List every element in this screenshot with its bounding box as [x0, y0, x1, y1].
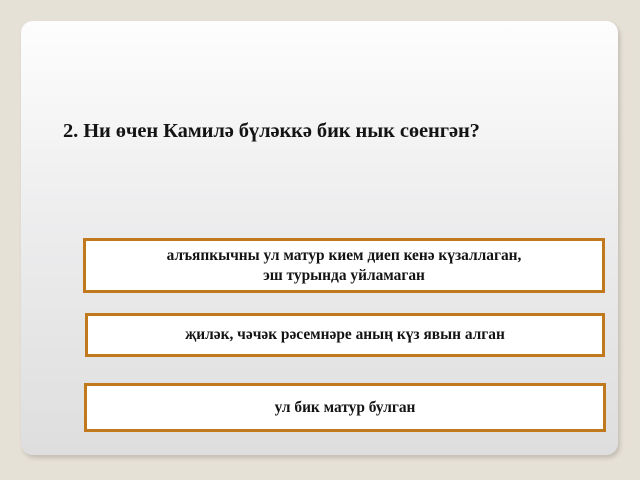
question-title: 2. Ни өчен Камилә бүләккә бик нык сөенгә…	[63, 119, 593, 144]
slide-card: 2. Ни өчен Камилә бүләккә бик нык сөенгә…	[21, 21, 618, 455]
answer-option-1-line-2: эш турында уйламаган	[167, 266, 522, 286]
answer-option-1-label: алъяпкычны ул матур кием диеп кенә күзал…	[161, 246, 528, 285]
answer-option-2-label: җиләк, чәчәк рәсемнәре аның күз явын алг…	[179, 325, 511, 345]
answer-option-1-line-1: алъяпкычны ул матур кием диеп кенә күзал…	[167, 246, 522, 266]
answer-option-3[interactable]: ул бик матур булган	[84, 383, 606, 432]
answer-option-3-label: ул бик матур булган	[269, 398, 422, 418]
answer-option-1[interactable]: алъяпкычны ул матур кием диеп кенә күзал…	[83, 238, 605, 293]
answer-option-2[interactable]: җиләк, чәчәк рәсемнәре аның күз явын алг…	[85, 313, 605, 357]
slide-root: 2. Ни өчен Камилә бүләккә бик нык сөенгә…	[0, 0, 640, 480]
